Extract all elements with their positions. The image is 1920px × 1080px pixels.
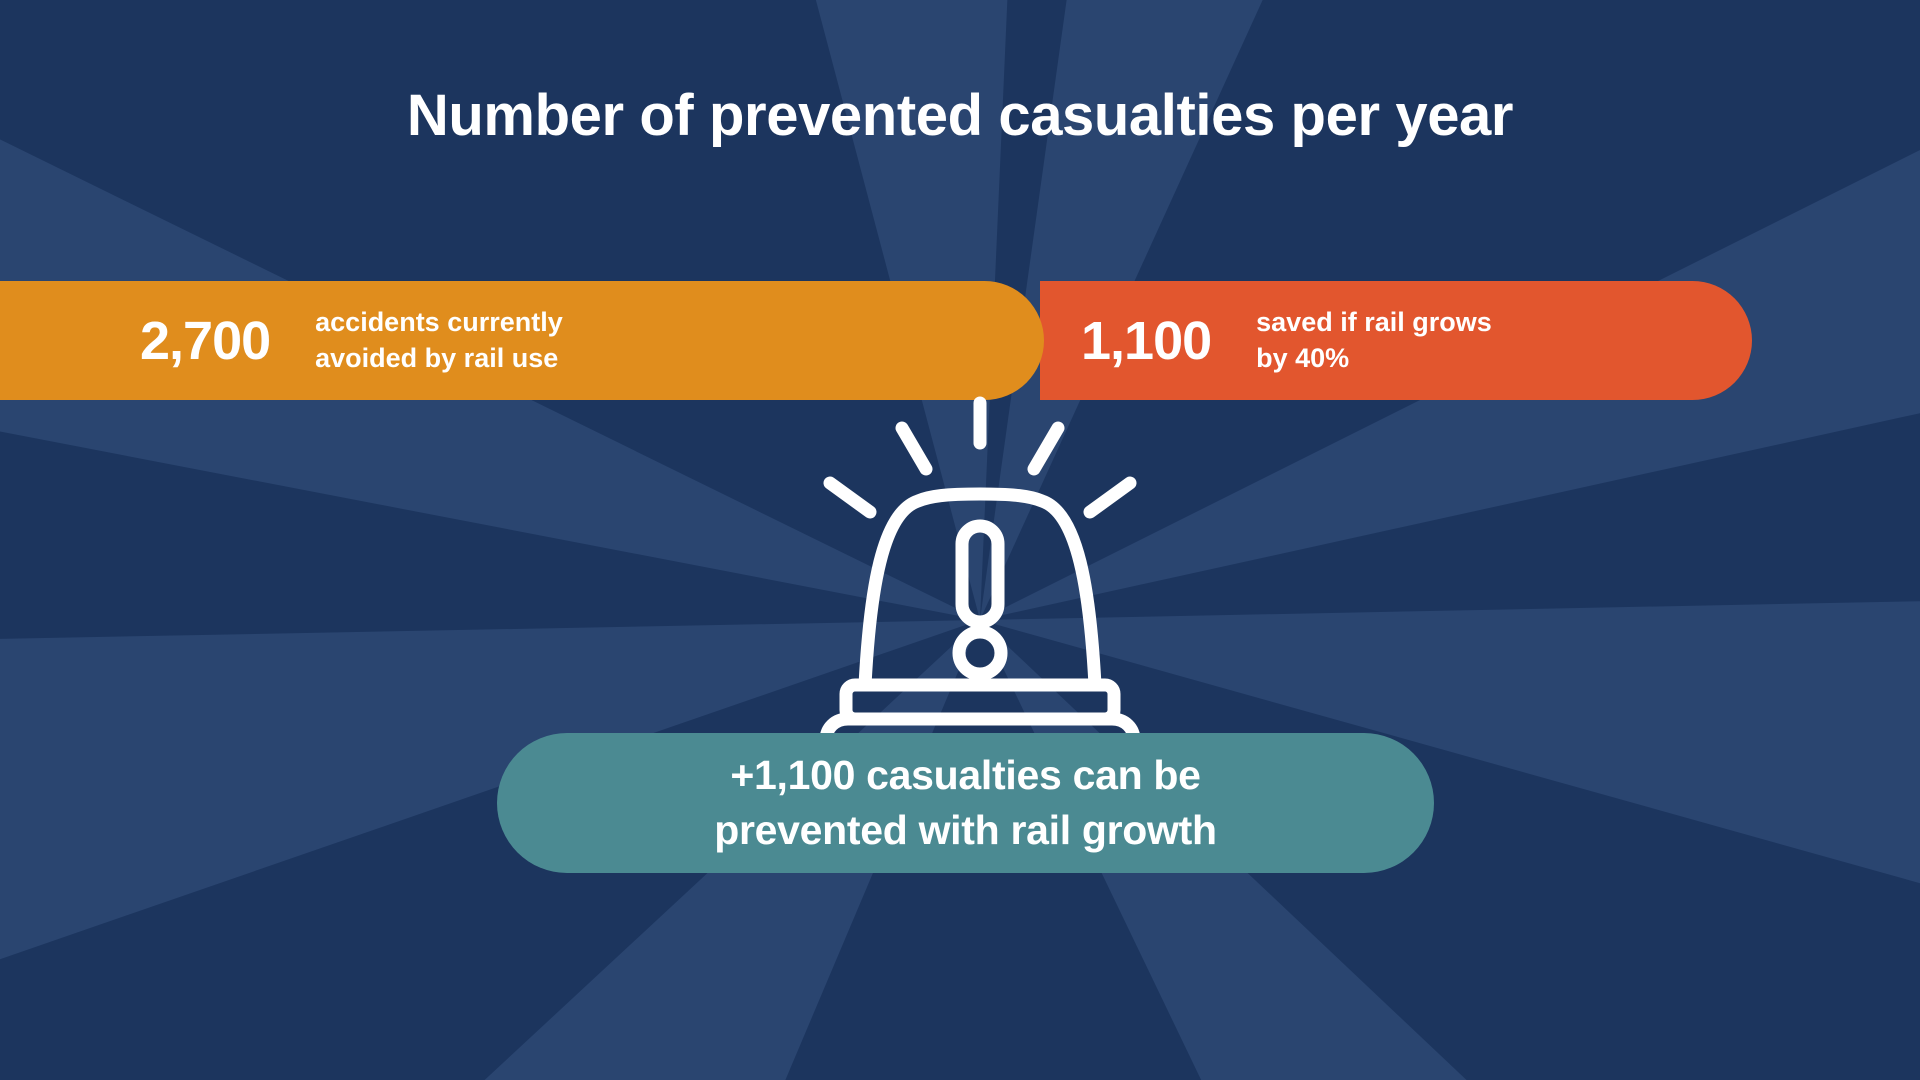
bar-segment-label: saved if rail grows by 40% xyxy=(1256,305,1492,376)
infographic-canvas: Number of prevented casualties per year … xyxy=(0,0,1920,1080)
bar-segment-potential[interactable]: 1,100 saved if rail grows by 40% xyxy=(1040,281,1752,400)
page-title: Number of prevented casualties per year xyxy=(0,86,1920,147)
summary-callout: +1,100 casualties can be prevented with … xyxy=(497,733,1434,873)
bar-segment-label: accidents currently avoided by rail use xyxy=(315,305,563,376)
bar-segment-value: 2,700 xyxy=(140,314,270,368)
callout-line-1: +1,100 casualties can be xyxy=(730,748,1200,803)
stacked-bar: 2,700 accidents currently avoided by rai… xyxy=(0,281,1920,400)
siren-alert-icon xyxy=(790,395,1170,740)
bar-segment-avoided[interactable]: 2,700 accidents currently avoided by rai… xyxy=(0,281,1044,400)
bar-segment-value: 1,100 xyxy=(1081,314,1211,368)
callout-line-2: prevented with rail growth xyxy=(714,803,1216,858)
